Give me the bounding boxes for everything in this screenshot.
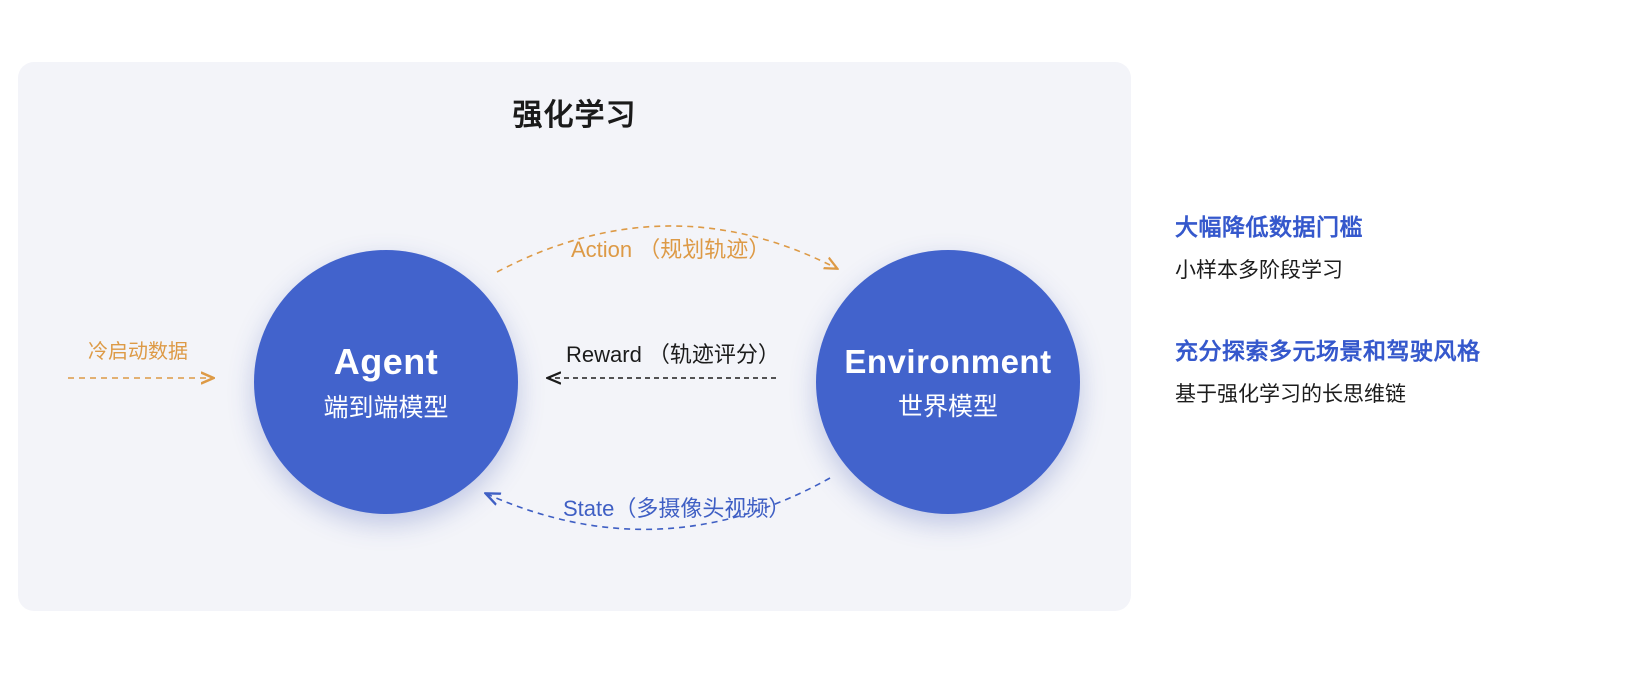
side-block-2: 充分探索多元场景和驾驶风格 基于强化学习的长思维链 <box>1175 334 1595 410</box>
side-block-1-sub: 小样本多阶段学习 <box>1175 255 1595 287</box>
node-agent-title-en: Agent <box>334 341 439 382</box>
arrow-label-state: State（多摄像头视频） <box>563 491 790 523</box>
card-title: 强化学习 <box>18 90 1131 134</box>
node-agent: Agent 端到端模型 <box>254 250 518 514</box>
node-environment-title-cn: 世界模型 <box>898 393 998 422</box>
side-panel: 大幅降低数据门槛 小样本多阶段学习 充分探索多元场景和驾驶风格 基于强化学习的长… <box>1175 210 1595 458</box>
side-block-2-sub: 基于强化学习的长思维链 <box>1175 379 1595 411</box>
arrow-label-cold-start: 冷启动数据 <box>88 335 188 364</box>
side-block-2-heading: 充分探索多元场景和驾驶风格 <box>1175 334 1595 369</box>
arrow-label-reward: Reward （轨迹评分） <box>566 337 780 369</box>
node-environment-title-en: Environment <box>844 343 1051 381</box>
arrow-label-action: Action （规划轨迹） <box>571 232 770 264</box>
node-environment: Environment 世界模型 <box>816 250 1080 514</box>
diagram-canvas: 强化学习 Agent 端到端模型 Environment 世界模型 <box>0 0 1640 685</box>
side-block-1: 大幅降低数据门槛 小样本多阶段学习 <box>1175 210 1595 286</box>
node-agent-title-cn: 端到端模型 <box>323 394 448 423</box>
side-block-1-heading: 大幅降低数据门槛 <box>1175 210 1595 245</box>
